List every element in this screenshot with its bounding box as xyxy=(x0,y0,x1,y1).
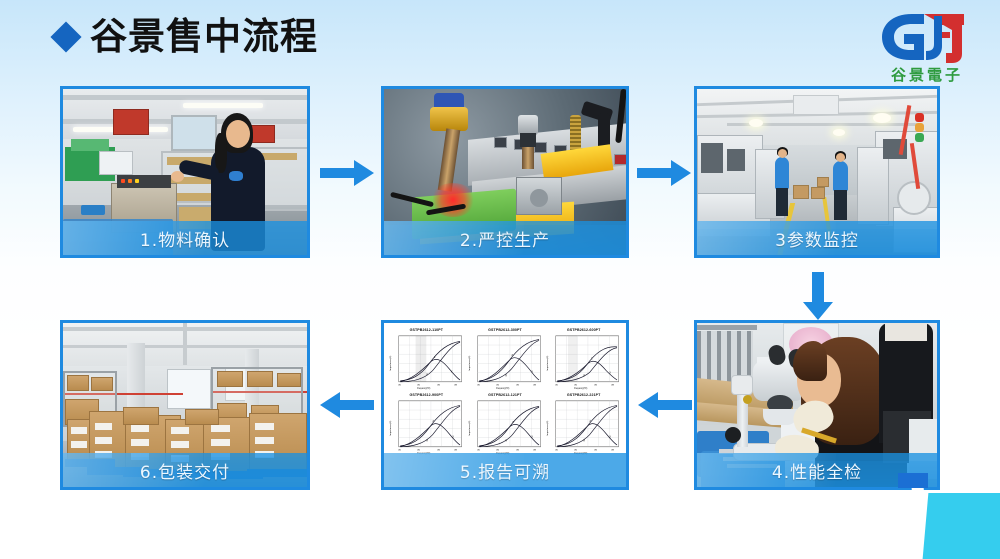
svg-text:1E4: 1E4 xyxy=(417,449,420,451)
svg-text:1E2: 1E2 xyxy=(555,449,558,451)
flow-step-5-panel[interactable]: GSTPB2612-110PT xyxy=(381,320,629,490)
svg-text:1E2: 1E2 xyxy=(477,384,480,386)
svg-text:1E6: 1E6 xyxy=(594,384,597,386)
svg-text:1E4: 1E4 xyxy=(574,384,577,386)
flow-step-5-caption: 5.报告可溯 xyxy=(384,453,626,487)
arrow-step5-to-step6 xyxy=(318,390,374,420)
svg-text:1E2: 1E2 xyxy=(398,449,401,451)
svg-text:1E2: 1E2 xyxy=(555,384,558,386)
svg-text:1E6: 1E6 xyxy=(437,384,440,386)
svg-text:1E8: 1E8 xyxy=(611,384,614,386)
svg-text:1E8: 1E8 xyxy=(533,449,536,451)
page-title-row: 谷景售中流程 xyxy=(55,18,318,55)
svg-text:1E6: 1E6 xyxy=(516,384,519,386)
svg-text:Impedance(Ω): Impedance(Ω) xyxy=(547,355,549,370)
flow-step-2-panel[interactable]: 2.严控生产 xyxy=(381,86,629,258)
svg-text:1E6: 1E6 xyxy=(594,449,597,451)
company-logo: 谷景電子 xyxy=(868,8,986,84)
page-title: 谷景售中流程 xyxy=(90,18,318,55)
test-chart-5: GSTPB2612-121PT xyxy=(467,394,544,457)
svg-text:1E4: 1E4 xyxy=(496,384,499,386)
svg-text:1E8: 1E8 xyxy=(454,449,457,451)
svg-text:Impedance(Ω): Impedance(Ω) xyxy=(469,355,471,370)
svg-text:1E2: 1E2 xyxy=(477,449,480,451)
test-chart-4: GSTPB2612-900PT xyxy=(388,394,465,457)
test-chart-6: GSTPB2612-221PT xyxy=(545,394,622,457)
gj-logo-icon xyxy=(868,8,986,66)
svg-text:Impedance(Ω): Impedance(Ω) xyxy=(469,420,471,435)
arrow-step3-to-step4 xyxy=(802,272,834,322)
svg-text:1E6: 1E6 xyxy=(516,449,519,451)
arrow-step2-to-step3 xyxy=(637,158,693,188)
svg-text:Impedance(Ω): Impedance(Ω) xyxy=(390,355,392,370)
flow-step-2-caption: 2.严控生产 xyxy=(384,221,626,255)
svg-text:Frequency(Hz): Frequency(Hz) xyxy=(574,387,587,390)
company-name-label: 谷景電子 xyxy=(868,64,986,85)
svg-text:Impedance(Ω): Impedance(Ω) xyxy=(547,420,549,435)
diamond-bullet-icon xyxy=(50,21,81,52)
test-chart-3: GSTPB2612-600PT xyxy=(545,329,622,392)
flow-step-6-caption: 6.包装交付 xyxy=(63,453,307,487)
svg-text:R: R xyxy=(505,374,507,377)
svg-text:1E2: 1E2 xyxy=(398,384,401,386)
flow-step-3-caption: 3参数监控 xyxy=(697,221,937,255)
svg-text:1E4: 1E4 xyxy=(496,449,499,451)
arrow-step4-to-step5 xyxy=(636,390,692,420)
svg-text:Frequency(Hz): Frequency(Hz) xyxy=(417,387,430,390)
svg-text:R: R xyxy=(584,374,586,377)
svg-text:Frequency(Hz): Frequency(Hz) xyxy=(496,387,509,390)
flow-step-3-panel[interactable]: 3参数监控 xyxy=(694,86,940,258)
flow-step-4-panel[interactable]: 4.性能全检 xyxy=(694,320,940,490)
svg-text:R: R xyxy=(426,373,428,376)
flow-step-1-panel[interactable]: 1.物料确认 xyxy=(60,86,310,258)
test-chart-1: GSTPB2612-110PT xyxy=(388,329,465,392)
flow-step-6-panel[interactable]: 6.包装交付 xyxy=(60,320,310,490)
svg-text:1E4: 1E4 xyxy=(574,449,577,451)
arrow-step1-to-step2 xyxy=(320,158,376,188)
svg-text:R: R xyxy=(584,439,586,442)
slide-root: 谷景售中流程 谷景電子 xyxy=(0,0,1000,559)
svg-text:1E6: 1E6 xyxy=(437,449,440,451)
svg-text:1E8: 1E8 xyxy=(611,449,614,451)
flow-step-1-caption: 1.物料确认 xyxy=(63,221,307,255)
svg-text:1E8: 1E8 xyxy=(533,384,536,386)
corner-decoration-accent xyxy=(898,473,928,488)
svg-text:R: R xyxy=(505,439,507,442)
svg-text:1E8: 1E8 xyxy=(454,384,457,386)
svg-text:R: R xyxy=(426,439,428,442)
slide-header: 谷景售中流程 谷景電子 xyxy=(0,0,1000,84)
svg-text:1E4: 1E4 xyxy=(417,384,420,386)
svg-text:Impedance(Ω): Impedance(Ω) xyxy=(390,420,392,435)
test-chart-2: GSTPB2612-300PT xyxy=(467,329,544,392)
